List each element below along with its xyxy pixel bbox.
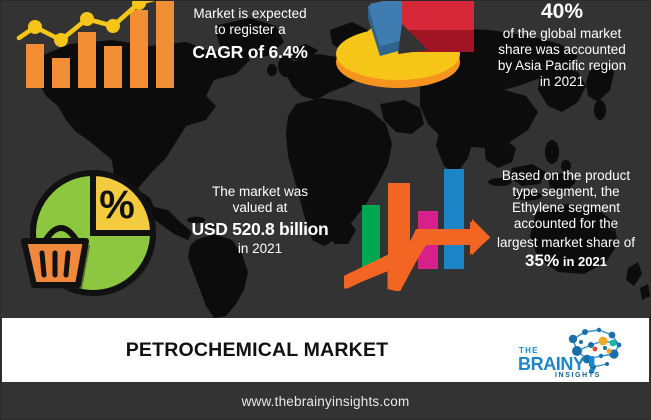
- stat-ethylene-line4: accounted for the: [514, 216, 618, 231]
- stat-ethylene-line1: Based on the product: [502, 168, 630, 183]
- logo-name-text: BRAINY: [518, 354, 585, 374]
- stat-ethylene-value: 35%: [525, 251, 559, 270]
- stat-cagr-value: CAGR of 6.4%: [168, 42, 332, 63]
- stat-cagr-line1: Market is expected: [193, 6, 306, 21]
- stat-asia-pacific: 40% of the global market share was accou…: [476, 0, 648, 89]
- stat-cagr: Market is expected to register a CAGR of…: [168, 6, 332, 62]
- stat-ethylene-line5: largest market share of: [482, 235, 650, 251]
- stat-asia-pacific-value: 40%: [476, 0, 648, 25]
- stat-ethylene-year: in 2021: [563, 254, 607, 269]
- stat-market-value-line1: The market was: [212, 184, 308, 199]
- stat-market-value-value: USD 520.8 billion: [170, 219, 350, 240]
- stat-asia-pacific-line4: in 2021: [540, 74, 584, 89]
- stat-ethylene-segment: Based on the product type segment, the E…: [482, 168, 650, 271]
- brainy-insights-logo[interactable]: THE BRAINY INSIGHTS: [515, 323, 635, 379]
- page-title: PETROCHEMICAL MARKET: [2, 318, 512, 382]
- chart-regional-share-pie: [332, 0, 478, 98]
- bar-series: [26, 0, 174, 88]
- stat-market-value: The market was valued at USD 520.8 billi…: [170, 184, 350, 257]
- title-band: PETROCHEMICAL MARKET: [2, 318, 649, 382]
- stat-asia-pacific-line2: share was accounted: [498, 42, 626, 57]
- stat-ethylene-line3: Ethylene segment: [512, 200, 620, 215]
- logo-sub-text: INSIGHTS: [555, 372, 601, 379]
- stat-market-value-line2: valued at: [233, 200, 288, 215]
- stat-asia-pacific-line3: by Asia Pacific region: [498, 58, 626, 73]
- footer-band: www.thebrainyinsights.com: [0, 382, 651, 420]
- percent-symbol: %: [99, 183, 135, 227]
- footer-url[interactable]: www.thebrainyinsights.com: [242, 394, 410, 409]
- chart-growth-bars-line: [14, 0, 174, 88]
- stat-ethylene-line2: type segment, the: [512, 184, 619, 199]
- chart-segment-bars-arrow: [344, 163, 490, 291]
- stat-asia-pacific-line1: of the global market: [503, 26, 622, 41]
- infographic-canvas: %: [0, 0, 651, 420]
- stat-market-value-line3: in 2021: [238, 241, 282, 256]
- stat-cagr-line2: to register a: [214, 22, 285, 37]
- chart-market-value-pie: %: [16, 163, 176, 305]
